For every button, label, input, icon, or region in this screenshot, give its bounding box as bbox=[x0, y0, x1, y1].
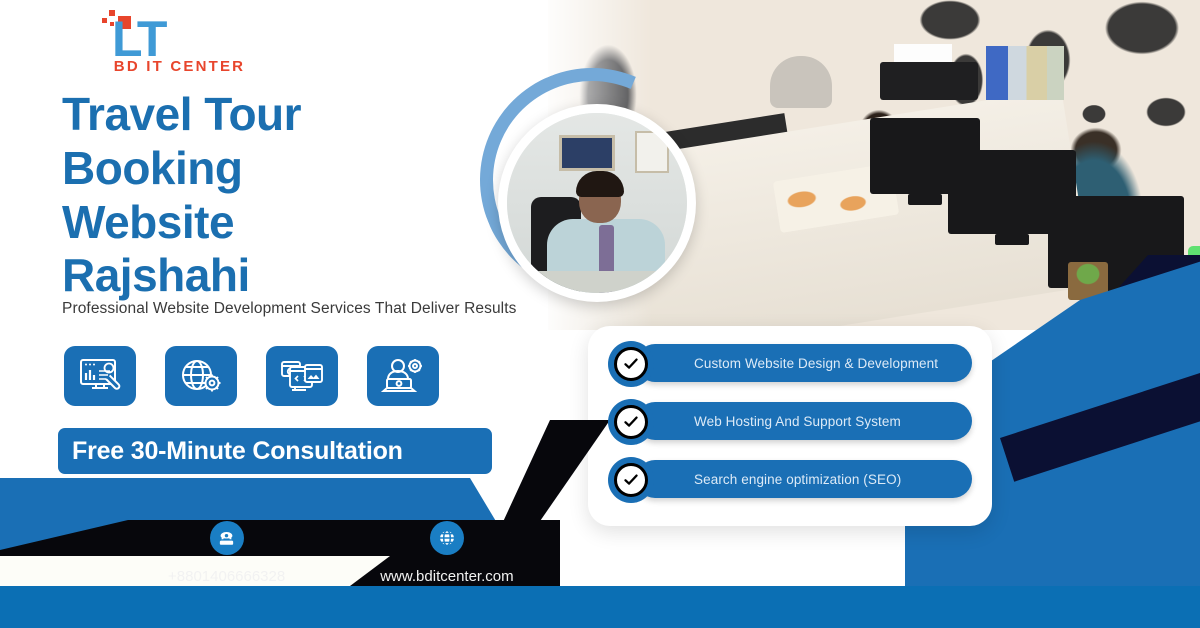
brand-logo[interactable]: LT BD IT CENTER bbox=[92, 8, 267, 78]
logo-pixel-accent bbox=[102, 18, 107, 23]
headline-line: Travel Tour bbox=[62, 88, 482, 142]
check-circle-icon bbox=[608, 457, 654, 503]
feature-label: Custom Website Design & Development bbox=[694, 356, 938, 371]
feature-label: Search engine optimization (SEO) bbox=[694, 472, 901, 487]
headline-line: Rajshahi bbox=[62, 249, 482, 303]
contact-info: +8801406666328 www.bditcenter.com bbox=[168, 521, 514, 585]
headline-line: Booking bbox=[62, 142, 482, 196]
support-person-laptop-icon[interactable] bbox=[367, 346, 439, 406]
feature-pill[interactable]: Web Hosting And Support System bbox=[636, 402, 972, 440]
headline-line: Website bbox=[62, 196, 482, 250]
feature-row[interactable]: Custom Website Design & Development bbox=[608, 344, 972, 384]
feature-row[interactable]: Search engine optimization (SEO) bbox=[608, 460, 972, 500]
page-title: Travel Tour Booking Website Rajshahi bbox=[62, 88, 482, 303]
logo-company-name: BD IT CENTER bbox=[92, 58, 267, 75]
globe-icon bbox=[430, 521, 464, 555]
feature-pill[interactable]: Search engine optimization (SEO) bbox=[636, 460, 972, 498]
check-inner bbox=[614, 463, 648, 497]
banner-canvas: Custom Website Design & Development Web … bbox=[0, 0, 1200, 628]
cta-button[interactable]: Free 30-Minute Consultation bbox=[58, 428, 492, 474]
feature-label: Web Hosting And Support System bbox=[694, 414, 901, 429]
founder-portrait bbox=[498, 104, 696, 302]
globe-gear-icon[interactable] bbox=[165, 346, 237, 406]
wall-photo-frame bbox=[559, 135, 615, 171]
web-design-screens-icon[interactable] bbox=[266, 346, 338, 406]
check-inner bbox=[614, 405, 648, 439]
feature-row[interactable]: Web Hosting And Support System bbox=[608, 402, 972, 442]
wall-certificate bbox=[635, 131, 669, 173]
telephone-icon bbox=[210, 521, 244, 555]
portrait-desk bbox=[507, 271, 687, 293]
features-card: Custom Website Design & Development Web … bbox=[588, 326, 992, 526]
contact-phone[interactable]: +8801406666328 bbox=[168, 521, 285, 585]
check-circle-icon bbox=[608, 399, 654, 445]
check-inner bbox=[614, 347, 648, 381]
phone-number: +8801406666328 bbox=[168, 568, 285, 585]
subheadline: Professional Website Development Service… bbox=[62, 300, 582, 318]
bottom-blue-bar bbox=[0, 586, 1200, 628]
website-url: www.bditcenter.com bbox=[380, 568, 513, 585]
analytics-monitor-wrench-icon[interactable] bbox=[64, 346, 136, 406]
check-circle-icon bbox=[608, 341, 654, 387]
logo-mark: LT bbox=[112, 14, 165, 64]
feature-pill[interactable]: Custom Website Design & Development bbox=[636, 344, 972, 382]
service-icon-tiles bbox=[64, 346, 439, 406]
contact-website[interactable]: www.bditcenter.com bbox=[380, 521, 513, 585]
